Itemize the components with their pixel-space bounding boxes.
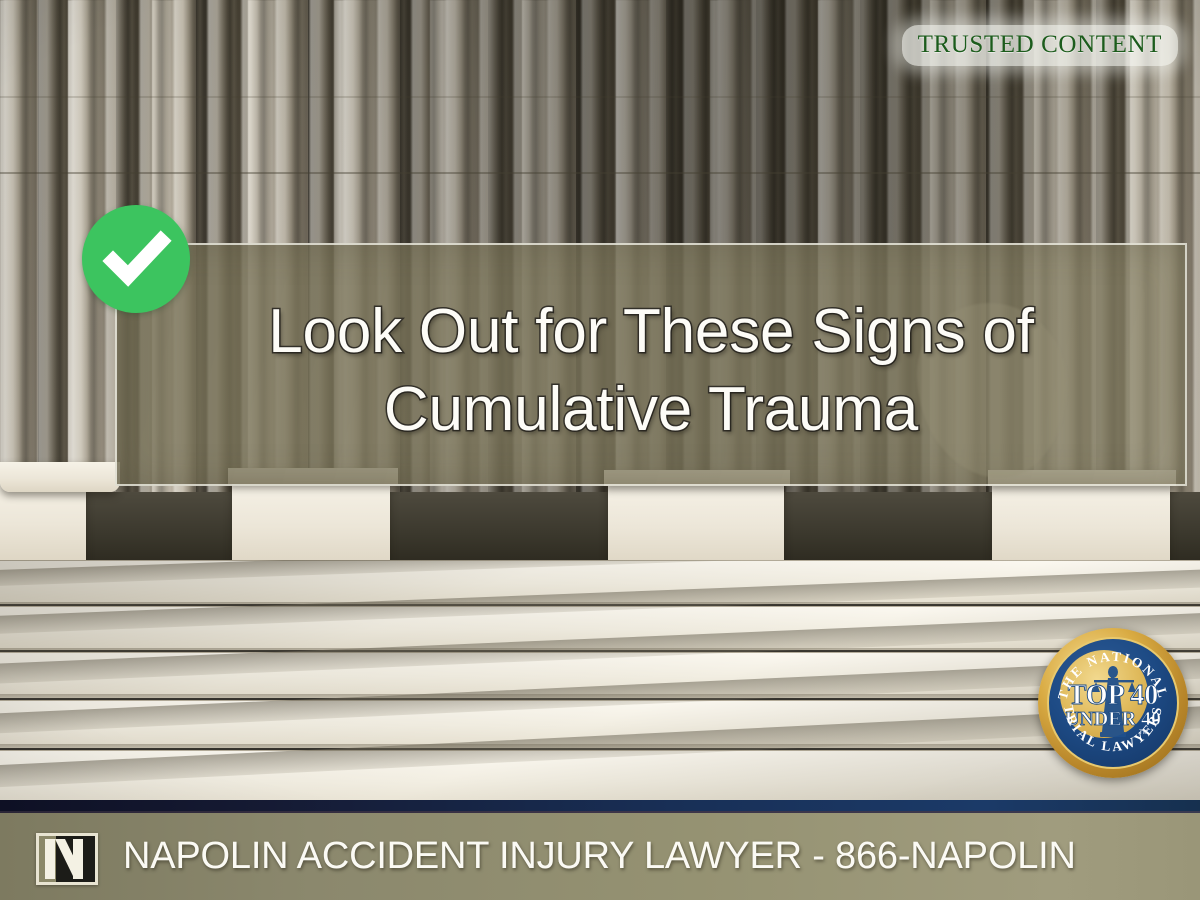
footer-accent-strip (0, 800, 1200, 811)
check-circle-icon (82, 205, 190, 313)
plinth-block (608, 480, 784, 566)
courthouse-steps (0, 560, 1200, 810)
logo-inner (39, 836, 95, 882)
plinth-block (0, 462, 120, 492)
hero-graphic: TRUSTED CONTENT Look Out for These Signs… (0, 0, 1200, 900)
napolin-logo-icon[interactable] (36, 833, 98, 885)
footer-brand-text: NAPOLIN ACCIDENT INJURY LAWYER - 866-NAP… (123, 813, 1076, 900)
trusted-content-label: TRUSTED CONTENT (918, 31, 1162, 58)
masonry-seam (0, 172, 1200, 174)
plinth-block (992, 480, 1170, 566)
plinth-block (232, 478, 390, 566)
seal-trademark: TM (1139, 730, 1148, 736)
title-band: Look Out for These Signs of Cumulative T… (115, 243, 1187, 486)
seal-center-top: TOP 40 (1068, 680, 1159, 711)
trusted-content-badge: TRUSTED CONTENT (902, 25, 1178, 66)
masonry-seam (0, 96, 1200, 98)
hero-title: Look Out for These Signs of Cumulative T… (117, 293, 1185, 449)
top-40-under-40-seal: TOP 40 UNDER 40 THE NATIONAL TRIAL LAWYE… (1038, 628, 1188, 778)
